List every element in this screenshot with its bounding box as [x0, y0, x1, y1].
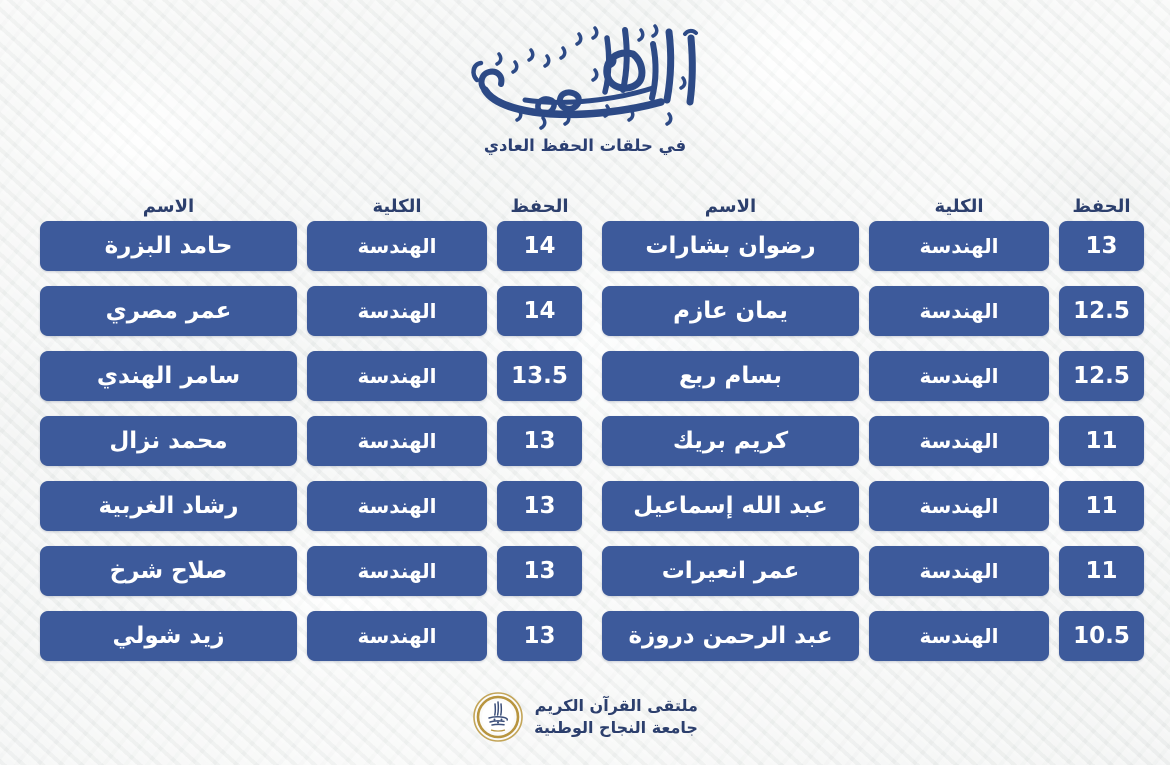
table-row: رشاد الغربية الهندسة 13: [40, 481, 582, 531]
column-header-faculty: الكلية: [307, 198, 487, 216]
column-header-faculty: الكلية: [869, 198, 1049, 216]
cell-score: 11: [1059, 416, 1144, 466]
cell-faculty: الهندسة: [307, 416, 487, 466]
cell-score: 13: [497, 416, 582, 466]
university-seal-icon: [472, 691, 524, 743]
cell-score: 11: [1059, 546, 1144, 596]
cell-name: يمان عازم: [602, 286, 859, 336]
table-row: عمر انعيرات الهندسة 11: [602, 546, 1144, 596]
table-right-header-row: الاسم الكلية الحفظ: [40, 190, 582, 216]
table-right: الاسم الكلية الحفظ حامد البزرة الهندسة 1…: [40, 190, 582, 676]
table-row: حامد البزرة الهندسة 14: [40, 221, 582, 271]
table-row: يمان عازم الهندسة 12.5: [602, 286, 1144, 336]
table-row: صلاح شرخ الهندسة 13: [40, 546, 582, 596]
cell-faculty: الهندسة: [869, 221, 1049, 271]
column-header-name: الاسم: [602, 198, 859, 216]
table-left: الاسم الكلية الحفظ رضوان بشارات الهندسة …: [602, 190, 1144, 676]
column-header-memorization: الحفظ: [1059, 198, 1144, 216]
cell-faculty: الهندسة: [307, 546, 487, 596]
cell-faculty: الهندسة: [869, 351, 1049, 401]
table-row: رضوان بشارات الهندسة 13: [602, 221, 1144, 271]
cell-name: رشاد الغربية: [40, 481, 297, 531]
cell-faculty: الهندسة: [307, 481, 487, 531]
table-row: زيد شولي الهندسة 13: [40, 611, 582, 661]
column-header-memorization: الحفظ: [497, 198, 582, 216]
cell-score: 14: [497, 286, 582, 336]
cell-score: 11: [1059, 481, 1144, 531]
cell-faculty: الهندسة: [869, 611, 1049, 661]
subtitle: في حلقات الحفظ العادي: [0, 136, 1170, 155]
cell-name: حامد البزرة: [40, 221, 297, 271]
cell-score: 13: [1059, 221, 1144, 271]
cell-score: 13.5: [497, 351, 582, 401]
cell-name: صلاح شرخ: [40, 546, 297, 596]
cell-name: سامر الهندي: [40, 351, 297, 401]
cell-score: 10.5: [1059, 611, 1144, 661]
cell-name: عمر مصري: [40, 286, 297, 336]
footer-line-1: ملتقى القرآن الكريم: [534, 695, 698, 717]
cell-name: عمر انعيرات: [602, 546, 859, 596]
cell-name: عبد الله إسماعيل: [602, 481, 859, 531]
table-row: عمر مصري الهندسة 14: [40, 286, 582, 336]
cell-score: 13: [497, 481, 582, 531]
table-left-header-row: الاسم الكلية الحفظ: [602, 190, 1144, 216]
table-row: عبد الرحمن دروزة الهندسة 10.5: [602, 611, 1144, 661]
table-row: سامر الهندي الهندسة 13.5: [40, 351, 582, 401]
cell-faculty: الهندسة: [307, 221, 487, 271]
table-row: عبد الله إسماعيل الهندسة 11: [602, 481, 1144, 531]
table-row: محمد نزال الهندسة 13: [40, 416, 582, 466]
cell-faculty: الهندسة: [869, 546, 1049, 596]
table-row: بسام ربع الهندسة 12.5: [602, 351, 1144, 401]
cell-score: 13: [497, 611, 582, 661]
cell-name: زيد شولي: [40, 611, 297, 661]
column-header-name: الاسم: [40, 198, 297, 216]
cell-name: رضوان بشارات: [602, 221, 859, 271]
footer-organization: ملتقى القرآن الكريم جامعة النجاح الوطنية: [534, 695, 698, 738]
cell-name: بسام ربع: [602, 351, 859, 401]
cell-faculty: الهندسة: [869, 286, 1049, 336]
footer-line-2: جامعة النجاح الوطنية: [534, 717, 698, 739]
cell-faculty: الهندسة: [307, 351, 487, 401]
header: في حلقات الحفظ العادي: [0, 14, 1170, 155]
title-calligraphy-ahl-alhimam: [455, 14, 715, 134]
cell-name: عبد الرحمن دروزة: [602, 611, 859, 661]
cell-faculty: الهندسة: [307, 611, 487, 661]
cell-name: محمد نزال: [40, 416, 297, 466]
cell-score: 12.5: [1059, 286, 1144, 336]
cell-faculty: الهندسة: [869, 481, 1049, 531]
cell-score: 12.5: [1059, 351, 1144, 401]
table-row: كريم بريك الهندسة 11: [602, 416, 1144, 466]
cell-faculty: الهندسة: [307, 286, 487, 336]
cell-name: كريم بريك: [602, 416, 859, 466]
cell-score: 14: [497, 221, 582, 271]
leaderboard-tables: الاسم الكلية الحفظ حامد البزرة الهندسة 1…: [40, 190, 1130, 676]
footer: ملتقى القرآن الكريم جامعة النجاح الوطنية: [0, 691, 1170, 743]
cell-faculty: الهندسة: [869, 416, 1049, 466]
cell-score: 13: [497, 546, 582, 596]
